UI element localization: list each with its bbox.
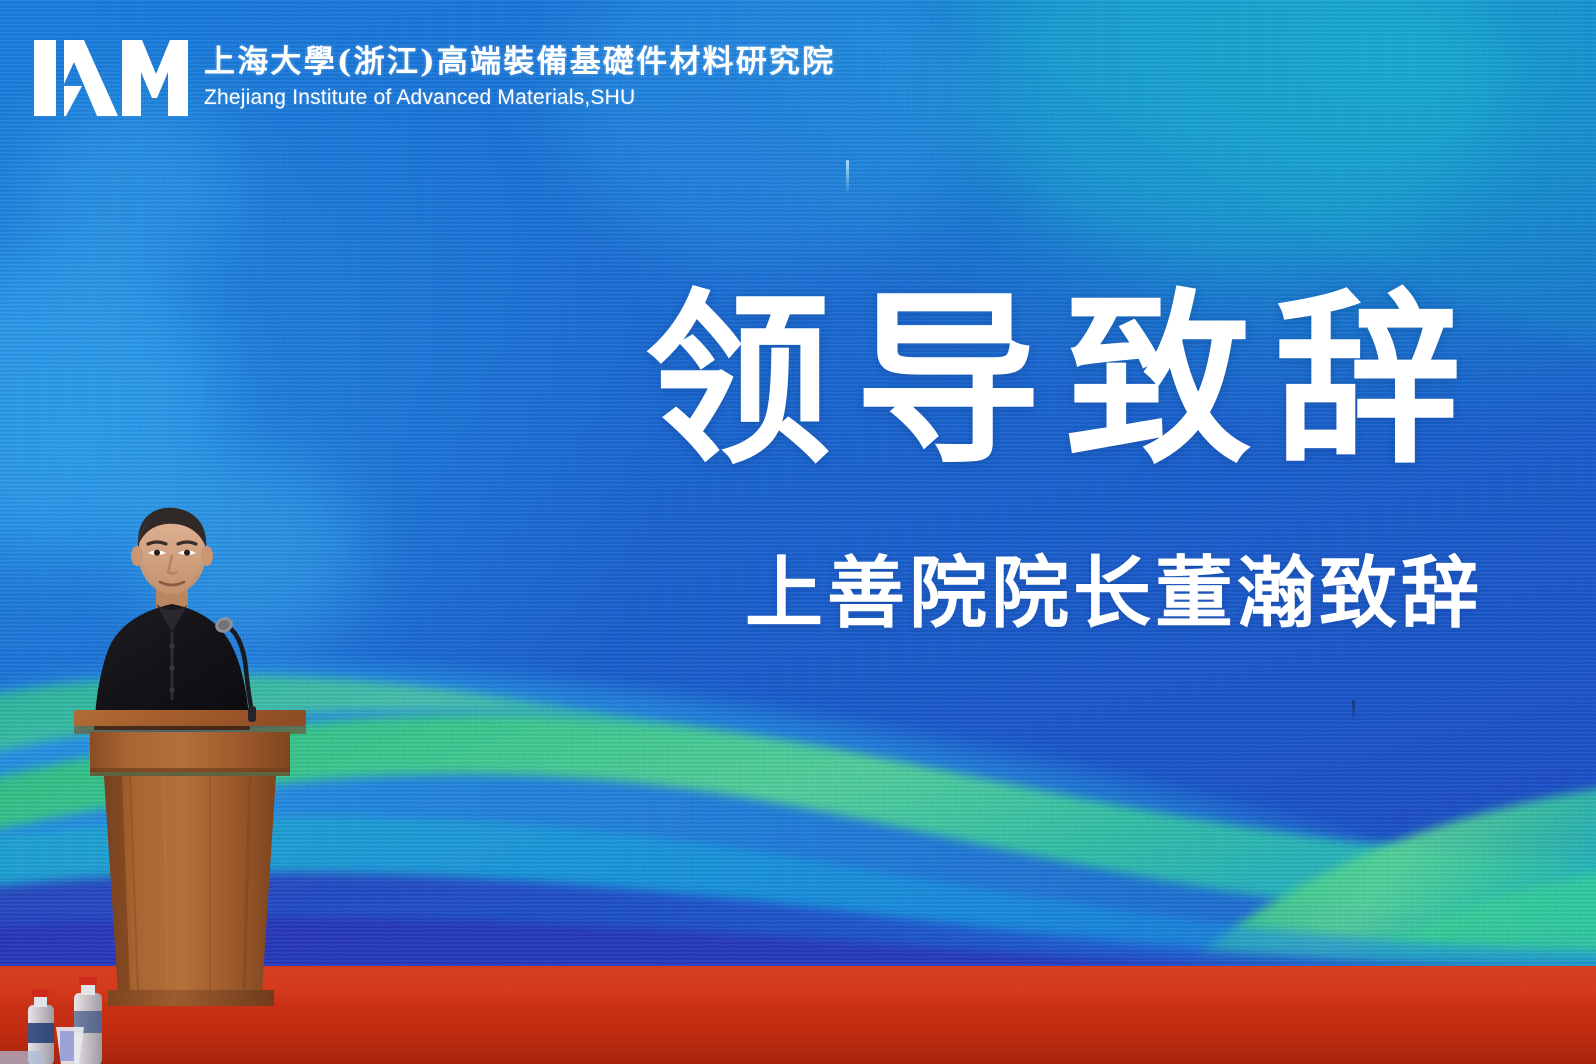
gooseneck-microphone	[196, 614, 276, 724]
screen-dark-artifact	[1352, 700, 1355, 722]
wooden-lectern	[60, 706, 320, 1006]
logo-title-en: Zhejiang Institute of Advanced Materials…	[204, 84, 835, 112]
screen-light-artifact	[846, 160, 849, 192]
water-bottles-on-table	[0, 975, 190, 1064]
slide-subheadline: 上善院院长董瀚致辞	[745, 555, 1483, 633]
iam-logo-icon	[30, 34, 190, 122]
screenshot-root: 上海大學(浙江)高端裝備基礎件材料研究院 Zhejiang Institute …	[0, 0, 1596, 1064]
institute-logo: 上海大學(浙江)高端裝備基礎件材料研究院 Zhejiang Institute …	[30, 34, 835, 122]
logo-title-cn: 上海大學(浙江)高端裝備基礎件材料研究院	[204, 44, 835, 81]
slide-headline: 领导致辞	[645, 288, 1596, 474]
